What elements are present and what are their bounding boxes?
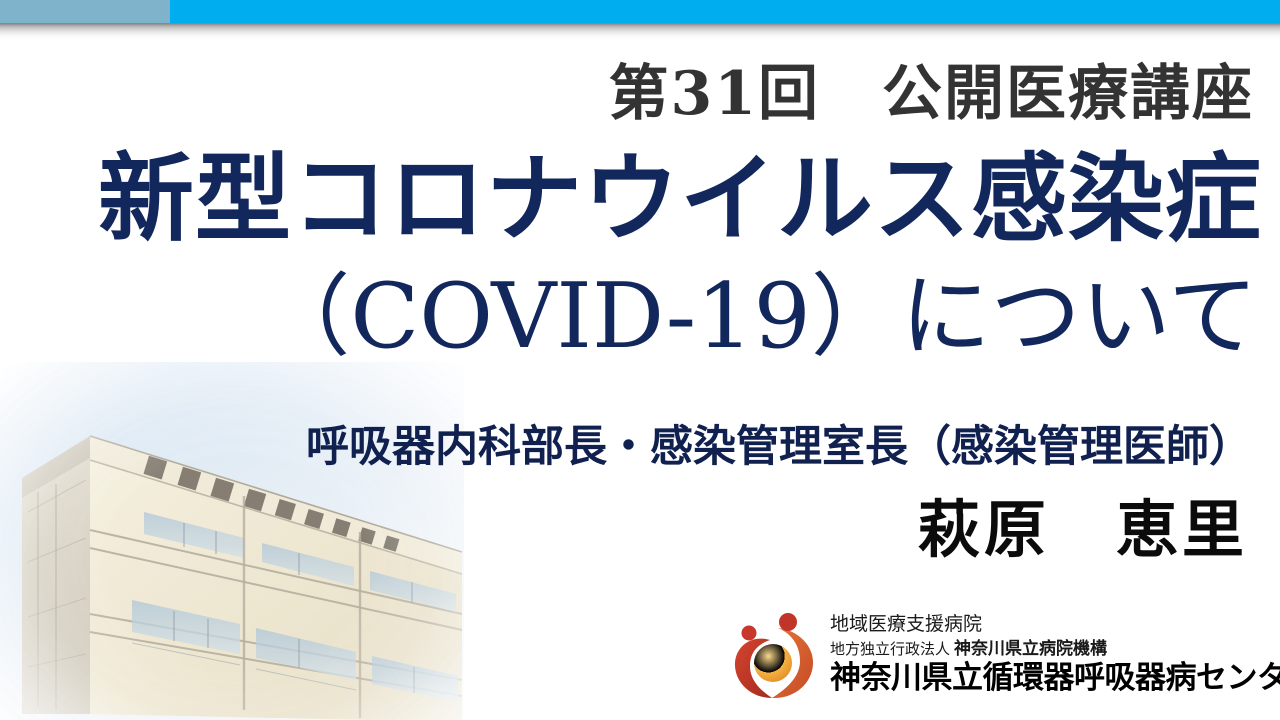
page-title-line-1: 新型コロナウイルス感染症: [0, 148, 1262, 252]
top-accent-bar-left-segment: [0, 0, 170, 23]
event-kicker: 第31回 公開医療講座: [0, 64, 1254, 124]
page-title-line-2: （COVID-19）について: [0, 268, 1258, 365]
top-accent-bar: [0, 0, 1280, 23]
hospital-logo: 地域医療支援病院 地方独立行政法人神奈川県立病院機構 神奈川県立循環器呼吸器病セ…: [726, 598, 1274, 710]
slide-root: 第31回 公開医療講座 新型コロナウイルス感染症 （COVID-19）について …: [0, 0, 1280, 720]
logo-designation: 地域医療支援病院: [830, 613, 1280, 635]
top-accent-bar-shadow: [0, 23, 1280, 41]
speaker-role: 呼吸器内科部長・感染管理室長（感染管理医師）: [0, 424, 1252, 471]
logo-parent-org: 神奈川県立病院機構: [954, 639, 1107, 659]
speaker-name: 萩原 恵里: [0, 496, 1248, 564]
logo-parent-org-line: 地方独立行政法人神奈川県立病院機構: [830, 638, 1280, 660]
top-accent-bar-right-segment: [170, 0, 1280, 23]
logo-hospital-name: 神奈川県立循環器呼吸器病センター: [830, 661, 1280, 697]
hospital-logo-text: 地域医療支援病院 地方独立行政法人神奈川県立病院機構 神奈川県立循環器呼吸器病セ…: [830, 611, 1280, 696]
logo-corporation-type: 地方独立行政法人: [830, 640, 950, 658]
hospital-logo-mark-icon: [726, 606, 822, 702]
